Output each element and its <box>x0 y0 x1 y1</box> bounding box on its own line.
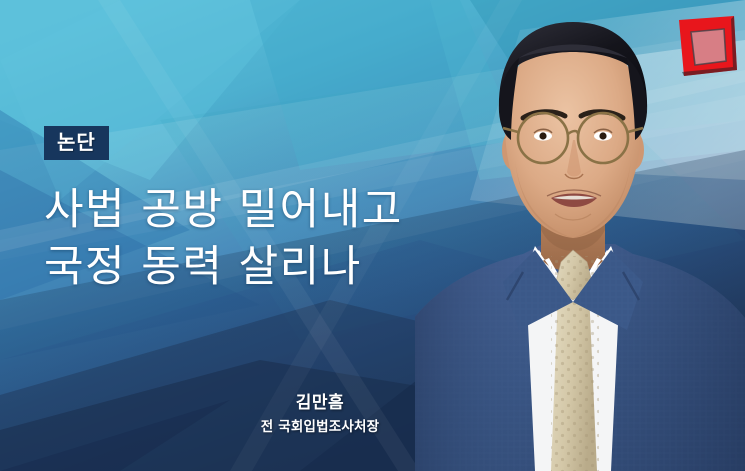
headline-line-2: 국정 동력 살리나 <box>44 239 524 296</box>
banner-text-block: 논단 사법 공방 밀어내고 국정 동력 살리나 <box>44 126 524 296</box>
article-banner-card: 논단 사법 공방 밀어내고 국정 동력 살리나 김만흠 전 국회입법조사처장 <box>0 0 745 471</box>
headline: 사법 공방 밀어내고 국정 동력 살리나 <box>44 182 524 296</box>
category-badge: 논단 <box>44 126 109 160</box>
headline-line-1: 사법 공방 밀어내고 <box>44 182 524 239</box>
red-frame-logo <box>676 14 740 78</box>
